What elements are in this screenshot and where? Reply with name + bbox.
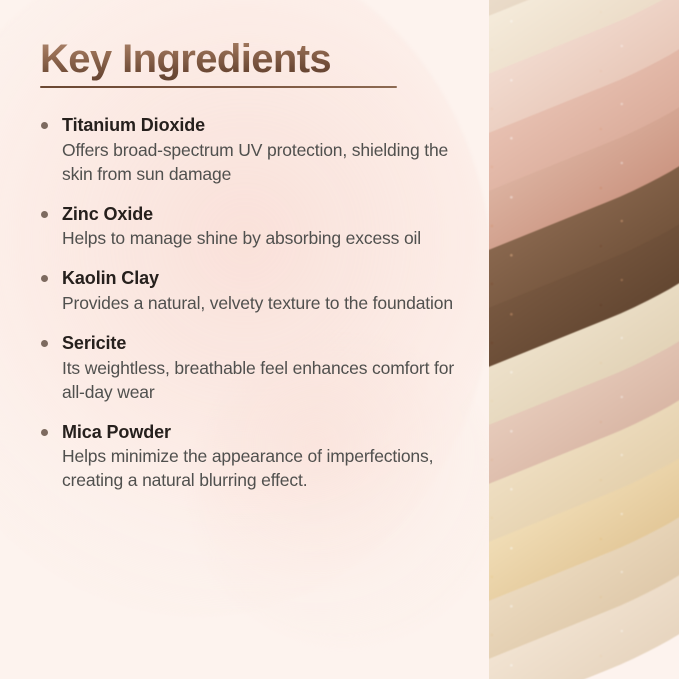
title-underline: [40, 86, 397, 88]
ingredient-name: Titanium Dioxide: [62, 114, 470, 137]
powder-swatch-band: [489, 173, 679, 397]
powder-swatch-band: [489, 349, 679, 573]
ingredient-description: Helps to manage shine by absorbing exces…: [62, 226, 454, 250]
bullet-icon: [41, 275, 48, 282]
powder-swatch-image: [489, 0, 679, 679]
ingredient-list: Titanium DioxideOffers broad-spectrum UV…: [40, 114, 470, 493]
powder-crumbs: [489, 0, 609, 679]
ingredient-item: SericiteIts weightless, breathable feel …: [40, 332, 470, 404]
bullet-icon: [41, 429, 48, 436]
powder-swatch-band: [489, 0, 679, 47]
powder-swatch-band: [489, 524, 679, 679]
ingredient-item: Mica PowderHelps minimize the appearance…: [40, 421, 470, 493]
powder-swatch-band: [489, 290, 679, 514]
bullet-icon: [41, 340, 48, 347]
powder-swatch-band: [489, 0, 679, 105]
photo-edge-fade: [489, 0, 679, 679]
ingredient-item: Kaolin ClayProvides a natural, velvety t…: [40, 267, 470, 315]
powder-swatch-band: [489, 115, 679, 339]
title-block: Key Ingredients: [40, 38, 470, 88]
powder-swatch-band: [489, 0, 679, 163]
powder-swatch-band: [489, 232, 679, 456]
ingredient-name: Sericite: [62, 332, 470, 355]
page-title: Key Ingredients: [40, 38, 331, 85]
content-column: Key Ingredients Titanium DioxideOffers b…: [0, 0, 470, 679]
ingredients-infographic: Key Ingredients Titanium DioxideOffers b…: [0, 0, 679, 679]
powder-swatch-band: [489, 466, 679, 679]
ingredient-item: Zinc OxideHelps to manage shine by absor…: [40, 203, 470, 251]
ingredient-description: Provides a natural, velvety texture to t…: [62, 291, 454, 315]
powder-swatch-band: [489, 407, 679, 631]
ingredient-name: Kaolin Clay: [62, 267, 470, 290]
ingredient-name: Mica Powder: [62, 421, 470, 444]
powder-swatch-band: [489, 56, 679, 280]
ingredient-name: Zinc Oxide: [62, 203, 470, 226]
powder-swatch-stack: [489, 0, 679, 679]
powder-swatch-band: [489, 0, 679, 222]
bullet-icon: [41, 122, 48, 129]
ingredient-description: Its weightless, breathable feel enhances…: [62, 356, 454, 404]
ingredient-item: Titanium DioxideOffers broad-spectrum UV…: [40, 114, 470, 186]
ingredient-description: Offers broad-spectrum UV protection, shi…: [62, 138, 454, 186]
ingredient-description: Helps minimize the appearance of imperfe…: [62, 444, 454, 492]
bullet-icon: [41, 211, 48, 218]
